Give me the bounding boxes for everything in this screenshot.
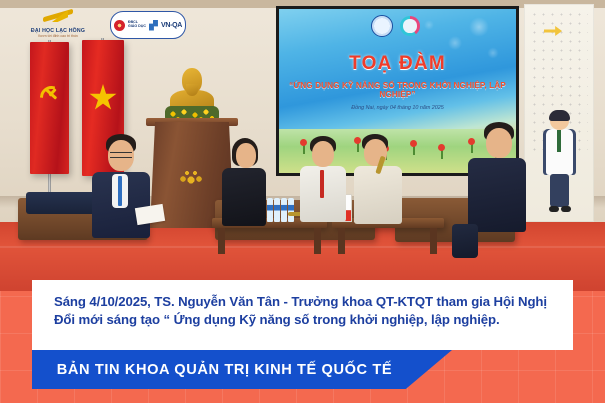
- caption-text: Sáng 4/10/2025, TS. Nguyễn Văn Tân - Trư…: [54, 293, 554, 329]
- accreditation-label: VN-QA: [161, 22, 182, 29]
- newsletter-ribbon-label: BẢN TIN KHOA QUẢN TRỊ KINH TẾ QUỐC TẾ: [32, 350, 417, 389]
- flying-bird-icon: [41, 10, 75, 27]
- stage-floor-line: [0, 246, 605, 248]
- screen-date-line: Đồng Nai, ngày 04 tháng 10 năm 2025: [279, 105, 516, 111]
- university-logo: ĐẠI HỌC LẠC HỒNG Vươn tới đỉnh cao tri t…: [16, 10, 100, 40]
- screen-logos: [371, 15, 433, 37]
- accreditation-red-mark: [114, 20, 125, 31]
- accreditation-blue-mark: [149, 20, 158, 31]
- accreditation-seal-icon: ĐBCLGIÁO DỤC VN-QA: [110, 11, 186, 39]
- event-photo: ĐẠI HỌC LẠC HỒNG Vươn tới đỉnh cao tri t…: [0, 0, 605, 291]
- news-poster: ĐẠI HỌC LẠC HỒNG Vươn tới đỉnh cao tri t…: [0, 0, 605, 403]
- flag-star: [89, 84, 117, 112]
- startup-logo-icon: [400, 16, 420, 36]
- table-leg: [430, 228, 437, 254]
- university-logo-tagline: Vươn tới đỉnh cao tri thức: [16, 34, 100, 38]
- screen-subtitle: “ỨNG DỤNG KỸ NĂNG SỐ TRONG KHỞI NGHIỆP, …: [279, 81, 516, 99]
- table-leg: [218, 228, 225, 254]
- wall-poster: [524, 4, 594, 222]
- student-mascot-icon: [542, 112, 576, 217]
- screen-title: TOẠ ĐÀM: [279, 53, 516, 75]
- seminar-logo-icon: [371, 15, 393, 37]
- caption-card: Sáng 4/10/2025, TS. Nguyễn Văn Tân - Trư…: [32, 280, 573, 350]
- podium-lotus-emblem: [177, 168, 205, 184]
- newsletter-ribbon: BẢN TIN KHOA QUẢN TRỊ KINH TẾ QUỐC TẾ: [32, 350, 452, 389]
- table-leg: [314, 228, 321, 254]
- table-leg: [338, 228, 345, 254]
- hammer-sickle-flag-icon: [30, 42, 69, 174]
- hammer-sickle-emblem: [39, 84, 60, 108]
- venue-logo-band: ĐẠI HỌC LẠC HỒNG Vươn tới đỉnh cao tri t…: [0, 0, 300, 44]
- accreditation-small-text: ĐBCLGIÁO DỤC: [128, 21, 146, 29]
